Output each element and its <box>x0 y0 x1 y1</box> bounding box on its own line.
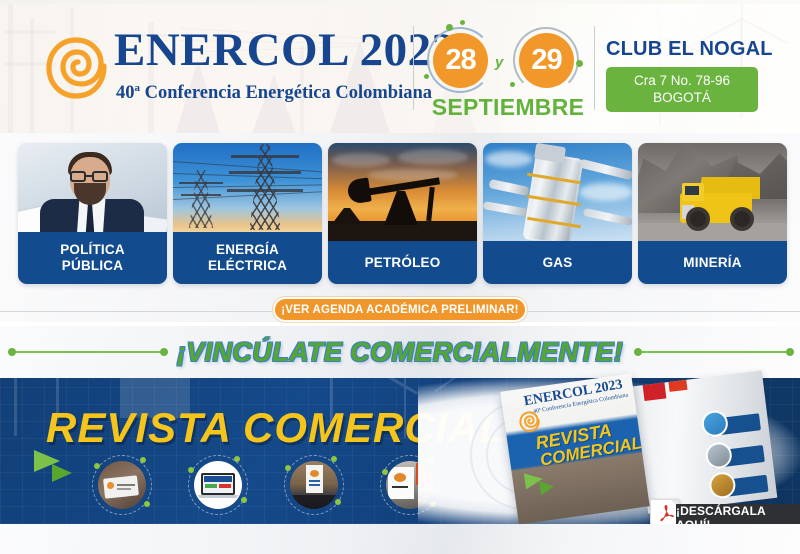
card-photo-mining-truck <box>638 143 787 243</box>
vinculate-dot-right-outer <box>786 348 794 356</box>
brand-edition-number: 40 <box>116 83 135 103</box>
topic-card-politica-publica[interactable]: POLÍTICA PÚBLICA <box>18 143 167 284</box>
card-label-gas: GAS <box>483 241 632 284</box>
topic-card-mineria[interactable]: MINERÍA <box>638 143 787 284</box>
venue-city: BOGOTÁ <box>612 89 752 106</box>
topic-card-petroleo[interactable]: PETRÓLEO <box>328 143 477 284</box>
card-label-energia-electrica: ENERGÍA ELÉCTRICA <box>173 232 322 284</box>
card-label-line1: POLÍTICA <box>60 242 125 258</box>
enercol-spiral-logo-icon <box>44 33 110 99</box>
brand-edition-ordinal: a <box>134 82 140 94</box>
venue-address: Cra 7 No. 78-96 <box>612 72 752 89</box>
event-dates: 28 y 29 SEPTIEMBRE <box>424 22 590 118</box>
card-label-line2: PÚBLICA <box>62 258 123 274</box>
card-photo-businessman <box>18 143 167 234</box>
topic-card-gas[interactable]: GAS <box>483 143 632 284</box>
agenda-button[interactable]: ¡VER AGENDA ACADÉMICA PRELIMINAR! <box>273 297 527 322</box>
page-header: ENERCOL 2023 40a Conferencia Energética … <box>0 0 800 133</box>
bottom-strip <box>0 524 800 554</box>
card-label-politica-publica: POLÍTICA PÚBLICA <box>18 232 167 284</box>
vinculate-rule-right <box>642 351 790 353</box>
card-label-line1: ENERGÍA <box>216 242 279 258</box>
card-photo-oil-pumpjack <box>328 143 477 243</box>
revista-thumb-badge-card[interactable] <box>98 461 146 509</box>
revista-thumb-laptop[interactable] <box>194 461 242 509</box>
topic-card-energia-electrica[interactable]: ENERGÍA ELÉCTRICA <box>173 143 322 284</box>
header-divider-right <box>594 26 595 110</box>
card-label-line1: MINERÍA <box>683 255 741 271</box>
header-divider-left <box>413 26 414 110</box>
card-photo-gas-plant <box>483 143 632 243</box>
card-label-line2: ELÉCTRICA <box>208 258 287 274</box>
venue-name: CLUB EL NOGAL <box>606 38 786 61</box>
card-label-petroleo: PETRÓLEO <box>328 241 477 284</box>
date-conjunction: y <box>495 54 503 71</box>
date-day-two: 29 <box>519 33 574 88</box>
date-month: SEPTIEMBRE <box>423 94 593 121</box>
top-strip <box>0 0 800 4</box>
magazine-cover-arrow-icon-2 <box>539 479 555 495</box>
brand-title: ENERCOL 2023 <box>114 24 434 76</box>
enercol-landing-page: ENERCOL 2023 40a Conferencia Energética … <box>0 0 800 554</box>
brand-subtitle-text: Conferencia Energética Colombiana <box>145 83 432 103</box>
agenda-rule-right <box>528 311 800 312</box>
magazine-inner-pages <box>633 371 778 514</box>
venue-address-box: Cra 7 No. 78-96 BOGOTÁ <box>606 67 758 112</box>
vinculate-band: ¡VINCÚLATE COMERCIALMENTE! <box>0 326 800 378</box>
agenda-rule-left <box>0 311 272 312</box>
brand-block: ENERCOL 2023 40a Conferencia Energética … <box>114 24 434 104</box>
card-photo-transmission-towers <box>173 143 322 234</box>
card-label-line1: PETRÓLEO <box>365 255 441 271</box>
venue-block: CLUB EL NOGAL Cra 7 No. 78-96 BOGOTÁ <box>606 38 786 112</box>
card-label-mineria: MINERÍA <box>638 241 787 284</box>
revista-thumb-auditorium[interactable] <box>290 461 338 509</box>
green-arrow-icon-left-small <box>52 464 72 482</box>
card-label-line1: GAS <box>543 255 573 271</box>
brand-subtitle: 40a Conferencia Energética Colombiana <box>114 77 432 104</box>
topic-cards-section: POLÍTICA PÚBLICA <box>0 133 800 322</box>
magazine-cover: ENERCOL 2023 40ª Conferencia Energética … <box>500 373 649 524</box>
vinculate-dot-right-inner <box>634 348 642 356</box>
date-day-one: 28 <box>433 33 488 88</box>
